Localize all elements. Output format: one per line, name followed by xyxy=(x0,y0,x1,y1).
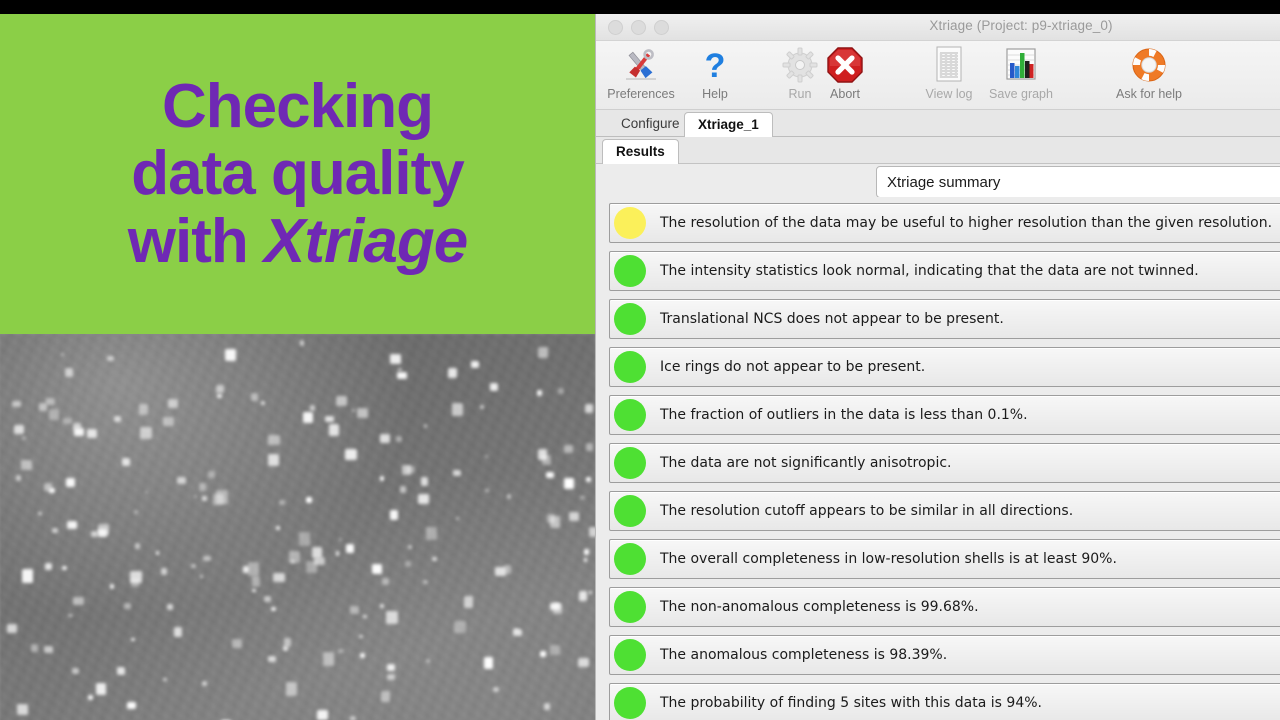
diffraction-spot xyxy=(276,526,280,530)
letterbox-top-bar xyxy=(0,0,1280,14)
tab-results[interactable]: Results xyxy=(602,139,679,164)
diffraction-spot xyxy=(546,472,554,478)
result-row[interactable]: Translational NCS does not appear to be … xyxy=(609,299,1280,339)
diffraction-spot xyxy=(400,486,406,493)
diffraction-spot xyxy=(490,383,498,391)
diffraction-spot xyxy=(584,558,588,561)
toolbar-button-abort[interactable]: Abort xyxy=(802,45,888,101)
diffraction-spot xyxy=(329,424,339,436)
result-row[interactable]: The overall completeness in low-resoluti… xyxy=(609,539,1280,579)
diffraction-spot xyxy=(380,434,391,442)
diffraction-spot xyxy=(251,393,258,401)
window-title-text: Xtriage (Project: p9-xtriage_0) xyxy=(596,18,1280,33)
tab-xtriage-1[interactable]: Xtriage_1 xyxy=(684,112,773,137)
diffraction-spot xyxy=(45,563,52,571)
diffraction-spot xyxy=(117,667,124,675)
result-row-text: The intensity statistics look normal, in… xyxy=(660,263,1199,279)
results-list[interactable]: The resolution of the data may be useful… xyxy=(596,197,1280,720)
status-warning-icon xyxy=(614,207,646,239)
tab-configure[interactable]: Configure xyxy=(608,112,693,136)
diffraction-spot xyxy=(66,478,76,487)
diffraction-spot xyxy=(268,656,276,663)
diffraction-spot xyxy=(453,470,461,476)
diffraction-spot xyxy=(268,454,279,466)
diffraction-spot xyxy=(363,615,367,618)
diffraction-spot xyxy=(372,564,381,574)
diffraction-spot xyxy=(271,607,276,611)
slide-title-line-3-italic: Xtriage xyxy=(264,207,467,276)
result-row[interactable]: The resolution of the data may be useful… xyxy=(609,203,1280,243)
status-ok-icon xyxy=(614,447,646,479)
diffraction-spot xyxy=(357,408,369,418)
diffraction-spot xyxy=(110,584,114,589)
diffraction-spot xyxy=(300,340,304,345)
result-row-text: Translational NCS does not appear to be … xyxy=(660,311,1004,327)
diffraction-spot xyxy=(167,604,173,611)
toolbar-label-abort: Abort xyxy=(802,87,888,101)
diffraction-spot xyxy=(493,687,500,692)
stop-x-icon xyxy=(802,45,888,85)
diffraction-spot xyxy=(553,603,562,614)
diffraction-spot xyxy=(350,716,356,720)
diffraction-spot xyxy=(127,702,136,709)
diffraction-spot xyxy=(585,404,593,413)
diffraction-spot xyxy=(286,682,297,696)
summary-selector-bar: Xtriage summary xyxy=(596,164,1280,201)
diffraction-spot xyxy=(131,638,134,641)
diffraction-spot xyxy=(156,551,159,555)
diffraction-spot xyxy=(139,404,148,415)
diffraction-spot xyxy=(225,349,235,361)
diffraction-spot xyxy=(558,388,564,394)
status-ok-icon xyxy=(614,687,646,719)
diffraction-spot xyxy=(168,399,178,408)
result-row[interactable]: Ice rings do not appear to be present. xyxy=(609,347,1280,387)
result-row-text: The non-anomalous completeness is 99.68%… xyxy=(660,599,979,615)
diffraction-spot xyxy=(199,483,206,491)
status-ok-icon xyxy=(614,351,646,383)
diffraction-spot xyxy=(540,651,546,657)
diffraction-spot xyxy=(44,646,53,653)
result-row[interactable]: The probability of finding 5 sites with … xyxy=(609,683,1280,720)
diffraction-spot xyxy=(216,490,228,504)
result-row-text: Ice rings do not appear to be present. xyxy=(660,359,925,375)
diffraction-spot xyxy=(550,645,560,655)
diffraction-spot xyxy=(96,683,106,696)
diffraction-spot xyxy=(426,527,438,541)
slide-title-block: Checking data quality with Xtriage xyxy=(0,14,595,334)
window-title-bar: Xtriage (Project: p9-xtriage_0) xyxy=(596,14,1280,41)
diffraction-spot xyxy=(65,368,73,377)
diffraction-spot xyxy=(396,436,402,442)
diffraction-spot xyxy=(423,580,427,583)
slide-title-line-2: data quality xyxy=(131,142,464,205)
diffraction-spot xyxy=(360,653,365,658)
toolbar-button-save-graph[interactable]: Save graph xyxy=(978,45,1064,101)
diffraction-spot xyxy=(17,704,27,715)
diffraction-spot xyxy=(131,579,140,587)
diffraction-spot xyxy=(306,497,312,502)
diffraction-spot xyxy=(140,427,152,439)
diffraction-spot xyxy=(310,405,315,411)
diffraction-spot xyxy=(452,403,463,417)
xtriage-application-window: Xtriage (Project: p9-xtriage_0) xyxy=(595,14,1280,720)
result-row[interactable]: The anomalous completeness is 98.39%. xyxy=(609,635,1280,675)
results-list-inner: The resolution of the data may be useful… xyxy=(596,197,1280,720)
result-row-text: The fraction of outliers in the data is … xyxy=(660,407,1028,423)
diffraction-spot xyxy=(87,429,97,438)
diffraction-spot xyxy=(390,354,401,365)
diffraction-spot xyxy=(504,565,511,574)
toolbar-label-help: Help xyxy=(672,87,758,101)
diffraction-spot xyxy=(248,562,259,576)
diffraction-spot xyxy=(352,409,355,412)
result-row-text: The data are not significantly anisotrop… xyxy=(660,455,951,471)
result-row-text: The anomalous completeness is 98.39%. xyxy=(660,647,947,663)
diffraction-spot xyxy=(273,573,284,582)
diffraction-spot xyxy=(217,394,222,398)
diffraction-spot xyxy=(124,603,131,609)
diffraction-spot xyxy=(312,547,322,558)
diffraction-spot xyxy=(426,659,429,663)
diffraction-spot xyxy=(387,674,394,680)
diffraction-spot xyxy=(448,368,457,378)
presentation-slide-panel: Checking data quality with Xtriage xyxy=(0,14,595,720)
diffraction-spot xyxy=(485,489,489,492)
diffraction-spot xyxy=(21,460,33,470)
lifebuoy-icon xyxy=(1106,45,1192,85)
status-ok-icon xyxy=(614,495,646,527)
diffraction-spot xyxy=(323,652,334,666)
diffraction-spot xyxy=(578,658,589,666)
result-row-text: The probability of finding 5 sites with … xyxy=(660,695,1042,711)
diffraction-spot xyxy=(49,488,55,493)
diffraction-spot xyxy=(122,458,130,466)
diffraction-spot xyxy=(418,494,429,504)
diffraction-spot xyxy=(424,424,427,428)
primary-tab-strip: Configure Xtriage_1 xyxy=(596,110,1280,137)
status-ok-icon xyxy=(614,303,646,335)
diffraction-spot xyxy=(515,629,518,631)
diffraction-spot xyxy=(61,353,64,356)
diffraction-spot xyxy=(586,443,593,451)
diffraction-spot xyxy=(317,710,328,719)
diffraction-spot xyxy=(163,678,167,681)
diffraction-spot xyxy=(62,566,67,570)
diffraction-spot xyxy=(432,557,437,562)
diffraction-spot xyxy=(537,390,542,396)
diffraction-spot xyxy=(283,646,288,651)
diffraction-spot xyxy=(464,596,474,607)
diffraction-spot xyxy=(291,560,295,563)
diffraction-spot xyxy=(538,347,548,358)
diffraction-spot xyxy=(177,477,186,484)
status-ok-icon xyxy=(614,639,646,671)
diffraction-spot xyxy=(538,449,547,460)
diffraction-spot xyxy=(22,569,34,583)
result-row-text: The resolution cutoff appears to be simi… xyxy=(660,503,1073,519)
diffraction-spot xyxy=(73,597,84,605)
xtriage-summary-tab[interactable]: Xtriage summary xyxy=(876,166,1280,198)
toolbar-button-ask-for-help[interactable]: Ask for help xyxy=(1106,45,1192,101)
diffraction-spot xyxy=(408,545,412,549)
diffraction-spot xyxy=(421,477,429,486)
diffraction-spot xyxy=(564,445,574,453)
diffraction-spot xyxy=(134,510,138,514)
bar-chart-icon xyxy=(978,45,1064,85)
diffraction-spot xyxy=(564,478,574,488)
status-ok-icon xyxy=(614,399,646,431)
slide-title-line-3: with Xtriage xyxy=(128,210,467,273)
diffraction-spot xyxy=(46,398,56,405)
toolbar-label-save-graph: Save graph xyxy=(978,87,1064,101)
diffraction-spot xyxy=(314,557,324,564)
diffraction-spot xyxy=(480,405,484,409)
svg-text:?: ? xyxy=(705,47,726,83)
diffraction-spot xyxy=(12,401,21,407)
status-ok-icon xyxy=(614,255,646,287)
result-row[interactable]: The fraction of outliers in the data is … xyxy=(609,395,1280,435)
diffraction-spot xyxy=(52,528,58,533)
diffraction-spot xyxy=(346,544,354,553)
diffraction-spot xyxy=(232,639,243,648)
diffraction-spot xyxy=(114,416,121,421)
status-ok-icon xyxy=(614,591,646,623)
diffraction-spot xyxy=(382,578,388,585)
diffraction-spot xyxy=(338,649,344,653)
diffraction-spot xyxy=(405,561,411,567)
diffraction-spot xyxy=(72,524,75,527)
diffraction-spot xyxy=(268,435,280,445)
diffraction-spot xyxy=(72,668,79,674)
diffraction-spot xyxy=(38,512,42,515)
diffraction-spot xyxy=(31,644,38,653)
diffraction-spot xyxy=(454,621,466,633)
diffraction-spot xyxy=(88,695,93,700)
diffraction-spot xyxy=(202,496,207,501)
result-row-text: The overall completeness in low-resoluti… xyxy=(660,551,1117,567)
diffraction-spot xyxy=(402,465,411,475)
diffraction-spot xyxy=(279,500,285,505)
diffraction-spot xyxy=(381,691,391,702)
diffraction-spot xyxy=(203,556,211,562)
diffraction-spot xyxy=(161,568,167,575)
diffraction-spot xyxy=(7,624,17,632)
diffraction-spot xyxy=(98,529,107,537)
diffraction-spot xyxy=(390,510,399,520)
diffraction-spot xyxy=(350,606,360,614)
diffraction-spot xyxy=(261,401,265,404)
result-row[interactable]: The non-anomalous completeness is 99.68%… xyxy=(609,587,1280,627)
diffraction-spot xyxy=(49,409,59,420)
diffraction-spot xyxy=(174,627,182,637)
slide-title-line-1: Checking xyxy=(162,75,433,138)
xtriage-summary-label: Xtriage summary xyxy=(887,174,1000,191)
diffraction-spot xyxy=(386,611,397,624)
x-ray-diffraction-image xyxy=(0,334,595,720)
diffraction-spot xyxy=(484,657,493,668)
diffraction-spot xyxy=(579,591,587,602)
diffraction-spot xyxy=(63,418,71,424)
diffraction-spot xyxy=(73,423,80,430)
diffraction-spot xyxy=(387,664,395,671)
result-row[interactable]: The resolution cutoff appears to be simi… xyxy=(609,491,1280,531)
diffraction-spot xyxy=(16,475,21,481)
diffraction-spot xyxy=(336,396,347,405)
diffraction-spot xyxy=(91,531,98,537)
result-row[interactable]: The intensity statistics look normal, in… xyxy=(609,251,1280,291)
diffraction-spot xyxy=(550,516,560,528)
diffraction-spot xyxy=(252,576,261,587)
diffraction-spot xyxy=(471,361,480,368)
secondary-tab-strip: Results xyxy=(596,137,1280,164)
diffraction-spot xyxy=(208,471,215,478)
status-ok-icon xyxy=(614,543,646,575)
question-mark-icon: ? xyxy=(672,45,758,85)
diffraction-spot xyxy=(303,412,313,423)
diffraction-spot xyxy=(586,477,592,482)
diffraction-spot xyxy=(202,681,207,686)
diffraction-spot xyxy=(584,549,589,555)
diffraction-spot xyxy=(163,417,173,426)
diffraction-spot xyxy=(264,596,271,602)
diffraction-spot xyxy=(345,449,357,460)
diffraction-spot xyxy=(39,403,47,411)
diffraction-spot xyxy=(216,385,224,393)
diffraction-spot xyxy=(569,512,579,521)
slide-title-line-3-plain: with xyxy=(128,207,264,276)
diffraction-noise xyxy=(0,334,595,720)
toolbar-label-ask-for-help: Ask for help xyxy=(1106,87,1192,101)
diffraction-spot xyxy=(397,372,407,380)
diffraction-spot xyxy=(107,356,114,361)
result-row[interactable]: The data are not significantly anisotrop… xyxy=(609,443,1280,483)
diffraction-spot xyxy=(14,425,24,435)
diffraction-spot xyxy=(299,532,310,546)
diffraction-spot xyxy=(325,416,333,422)
screenshot-root: Checking data quality with Xtriage Xtria… xyxy=(0,0,1280,720)
diffraction-spot xyxy=(544,703,550,710)
result-row-text: The resolution of the data may be useful… xyxy=(660,215,1272,231)
main-toolbar: Preferences ? Help xyxy=(596,41,1280,110)
toolbar-button-help[interactable]: ? Help xyxy=(672,45,758,101)
